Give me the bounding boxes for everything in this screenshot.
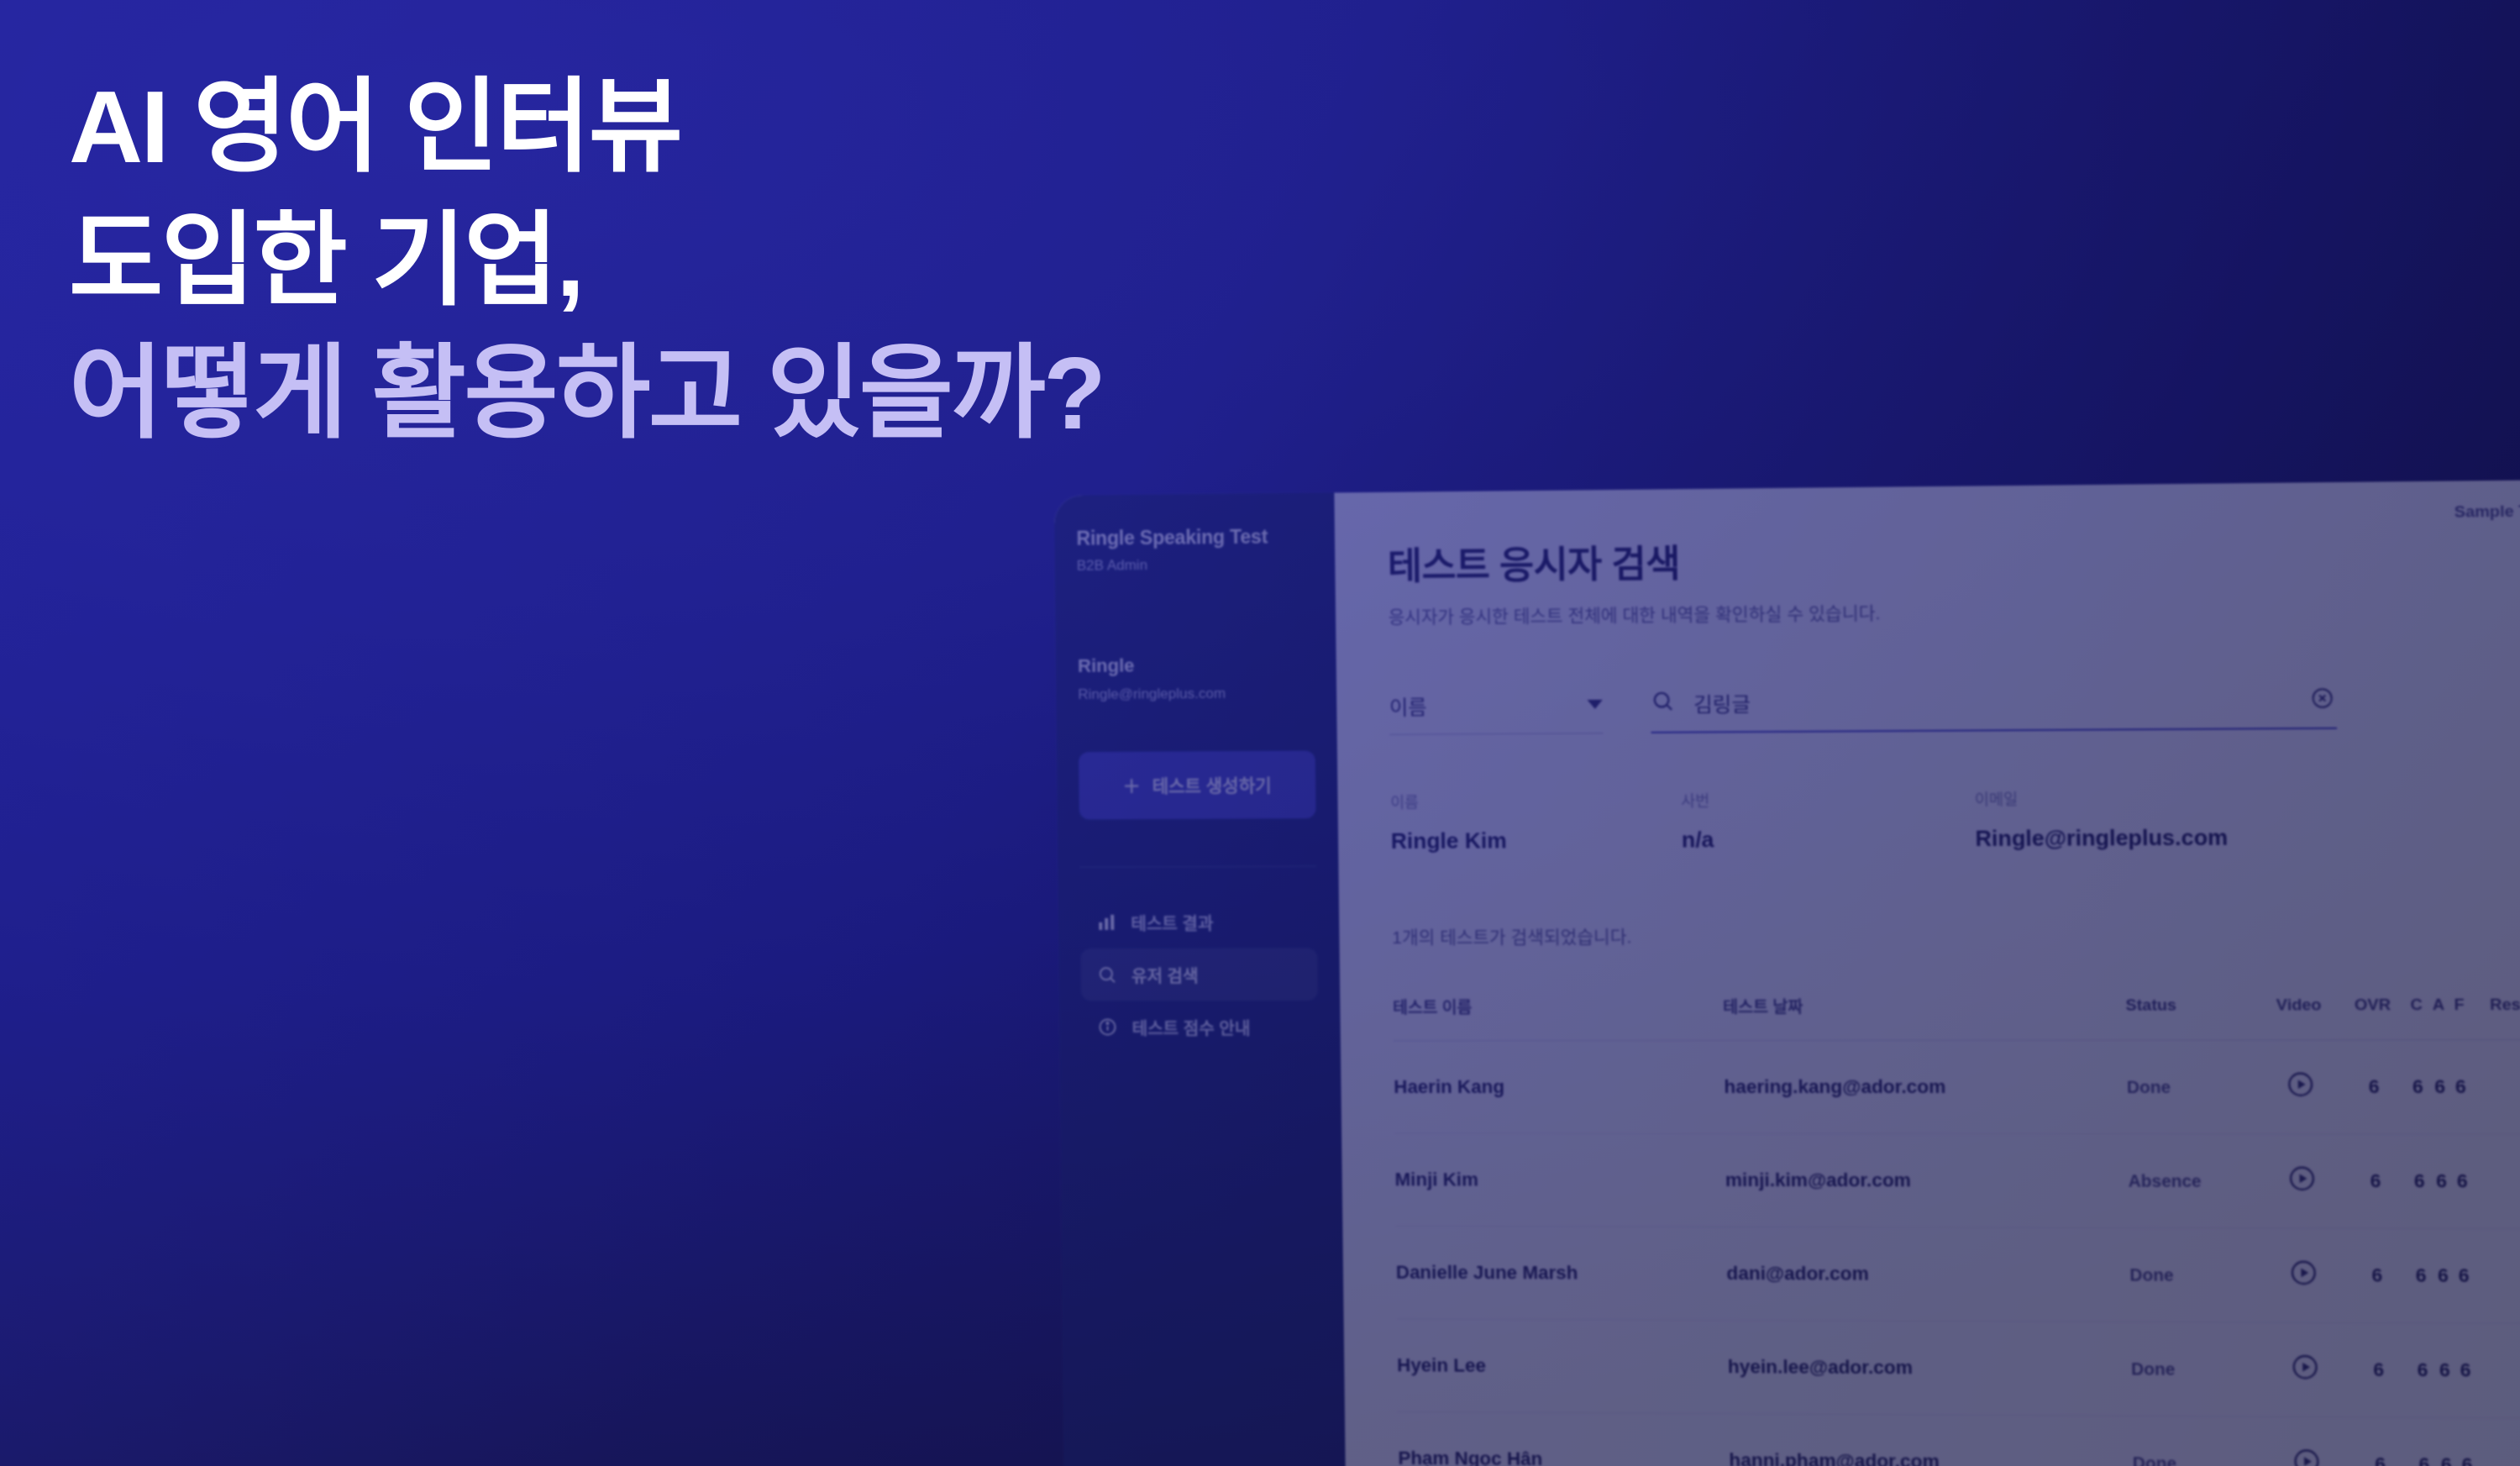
cell-f: 6 [2452, 1134, 2473, 1228]
table-header-row: 테스트 이름 테스트 날짜 Status Video OVR C A F Res… [1393, 993, 2520, 1040]
user-info-label: 이름 [1390, 790, 1681, 813]
cell-test-name: Phạm Ngọc Hân [1398, 1412, 1730, 1466]
cell-c: 6 [2412, 1417, 2436, 1466]
table-col-test-name[interactable]: 테스트 이름 [1393, 995, 1724, 1041]
cell-a: 6 [2434, 1417, 2458, 1466]
account-email: Ringle@ringleplus.com [1078, 685, 1315, 703]
cell-a: 6 [2428, 1040, 2452, 1134]
table-row[interactable]: Hyein Leehyein.lee@ador.comDone6666 [1397, 1319, 2520, 1418]
sidebar-item-score-guide[interactable]: 테스트 점수 안내 [1081, 1001, 1319, 1054]
app-sidebar: Ringle Speaking Test B2B Admin Ringle Ri… [1054, 493, 1346, 1466]
cell-c: 6 [2411, 1323, 2434, 1418]
play-icon[interactable] [2285, 1082, 2315, 1104]
filter-row: 이름 김링글 [1389, 682, 2520, 735]
brand-title: Ringle Speaking Test [1076, 525, 1313, 550]
cell-result [2471, 1134, 2520, 1229]
sidebar-divider [1079, 866, 1316, 868]
table-row[interactable]: Danielle June Marshdani@ador.comDone6666 [1395, 1226, 2520, 1323]
table-col-status[interactable]: Status [2125, 994, 2258, 1040]
play-icon[interactable] [2290, 1364, 2320, 1386]
clear-circle-icon[interactable] [2310, 686, 2337, 712]
cell-video[interactable] [2259, 1040, 2342, 1134]
user-info-row: 이름 Ringle Kim 사번 n/a 이메일 Ringle@ringlepl… [1390, 785, 2520, 854]
cell-a: 6 [2431, 1228, 2454, 1323]
headline-line-3: 어떻게 활용하고 있을까? [69, 327, 1104, 460]
cell-test-date: hyein.lee@ador.com [1727, 1320, 2132, 1416]
search-input[interactable]: 김링글 [1651, 683, 2337, 733]
cell-video[interactable] [2265, 1416, 2348, 1466]
bar-chart-icon [1095, 912, 1117, 933]
cell-result [2473, 1228, 2520, 1323]
cell-f: 6 [2456, 1418, 2477, 1466]
cell-f: 6 [2453, 1228, 2474, 1323]
table-row[interactable]: Minji Kimminji.kim@ador.comAbsence6666 [1394, 1133, 2520, 1229]
cell-f: 6 [2454, 1323, 2475, 1418]
cell-status: Done [2130, 1322, 2265, 1416]
cell-ovr: 6 [2342, 1134, 2409, 1228]
cell-a: 6 [2429, 1134, 2453, 1228]
create-test-button-label: 테스트 생성하기 [1152, 772, 1272, 798]
topbar-sample-test-label[interactable]: Sample Test [2454, 502, 2520, 523]
plus-icon: ＋ [1122, 773, 1140, 798]
cell-test-date: dani@ador.com [1726, 1227, 2131, 1322]
cell-ovr: 6 [2346, 1417, 2413, 1466]
cell-status: Absence [2128, 1134, 2261, 1228]
table-body: Haerin Kanghaering.kang@ador.comDone6666… [1394, 1040, 2520, 1466]
sidebar-nav: 테스트 결과 유저 검색 테스트 점수 안내 [1080, 896, 1319, 1054]
cell-ovr: 6 [2345, 1322, 2412, 1417]
sidebar-item-user-search[interactable]: 유저 검색 [1080, 948, 1318, 1001]
filter-type-value: 이름 [1389, 691, 1427, 721]
cell-test-name: Minji Kim [1394, 1133, 1726, 1227]
app-main-content: Sample Test 테스트 응시자 검색 응시자가 응시한 테스트 전체에 … [1334, 480, 2520, 1466]
cell-f: 6 [2450, 1040, 2471, 1134]
user-info-email: 이메일 Ringle@ringleplus.com [1975, 785, 2520, 852]
cell-c: 6 [2407, 1134, 2431, 1228]
user-info-employee-id: 사번 n/a [1681, 788, 1976, 854]
table-col-f[interactable]: F [2449, 994, 2470, 1040]
cell-result [2476, 1418, 2520, 1466]
cell-status: Done [2132, 1416, 2266, 1466]
sidebar-item-label: 테스트 결과 [1131, 910, 1213, 934]
cell-result [2475, 1323, 2520, 1418]
account-block: Ringle Ringle@ringleplus.com [1078, 654, 1315, 703]
cell-a: 6 [2433, 1323, 2456, 1418]
cell-test-date: minji.kim@ador.com [1725, 1133, 2129, 1227]
cell-video[interactable] [2263, 1322, 2346, 1417]
cell-test-name: Danielle June Marsh [1395, 1226, 1727, 1320]
play-icon[interactable] [2286, 1176, 2317, 1198]
page-subtitle: 응시자가 응시한 테스트 전체에 대한 내역을 확인하실 수 있습니다. [1389, 594, 2520, 629]
info-circle-icon [1096, 1016, 1118, 1038]
cell-ovr: 6 [2344, 1228, 2411, 1323]
cell-status: Done [2129, 1227, 2263, 1322]
filter-type-select[interactable]: 이름 [1389, 690, 1604, 735]
user-info-name: 이름 Ringle Kim [1390, 790, 1682, 855]
table-col-c[interactable]: C [2405, 994, 2428, 1040]
play-icon[interactable] [2292, 1458, 2322, 1466]
cell-test-date: hanni.pham@ador.com [1729, 1414, 2134, 1466]
cell-video[interactable] [2260, 1134, 2343, 1228]
chevron-down-icon [1587, 700, 1602, 709]
search-icon [1096, 964, 1118, 985]
app-screen: Ringle Speaking Test B2B Admin Ringle Ri… [1054, 480, 2520, 1466]
cell-test-date: haering.kang@ador.com [1724, 1040, 2128, 1134]
user-info-value: n/a [1682, 826, 1976, 854]
cell-test-name: Hyein Lee [1397, 1319, 1729, 1414]
search-icon [1651, 689, 1675, 717]
user-info-value: Ringle@ringleplus.com [1975, 822, 2520, 852]
cell-ovr: 6 [2340, 1040, 2407, 1134]
table-row[interactable]: Haerin Kanghaering.kang@ador.comDone6666 [1394, 1040, 2520, 1135]
headline-line-2: 도입한 기업, [69, 194, 1104, 328]
table-col-result[interactable]: Result [2469, 993, 2520, 1039]
table-col-test-date[interactable]: 테스트 날짜 [1723, 994, 2126, 1040]
user-info-label: 사번 [1681, 788, 1975, 812]
cell-c: 6 [2406, 1040, 2429, 1134]
cell-test-name: Haerin Kang [1394, 1040, 1725, 1133]
tests-table: 테스트 이름 테스트 날짜 Status Video OVR C A F Res… [1393, 993, 2520, 1466]
play-icon[interactable] [2288, 1270, 2318, 1292]
user-info-label: 이메일 [1975, 785, 2520, 810]
cell-result [2470, 1040, 2520, 1135]
table-col-a[interactable]: A [2428, 994, 2450, 1040]
sidebar-item-label: 유저 검색 [1131, 962, 1199, 986]
table-col-video[interactable]: Video [2258, 994, 2340, 1040]
sidebar-item-label: 테스트 점수 안내 [1131, 1015, 1250, 1039]
page-title: 테스트 응시자 검색 [1388, 525, 2520, 591]
sidebar-item-test-results[interactable]: 테스트 결과 [1080, 896, 1317, 948]
create-test-button[interactable]: ＋ 테스트 생성하기 [1079, 751, 1315, 820]
cell-video[interactable] [2261, 1228, 2344, 1323]
user-info-value: Ringle Kim [1391, 827, 1682, 854]
cell-c: 6 [2409, 1228, 2433, 1323]
account-name: Ringle [1078, 654, 1315, 677]
cell-status: Done [2126, 1040, 2260, 1134]
table-row[interactable]: Phạm Ngọc Hânhanni.pham@ador.comDone6666 [1398, 1412, 2520, 1466]
headline: AI 영어 인터뷰 도입한 기업, 어떻게 활용하고 있을까? [69, 60, 1104, 460]
laptop-device-mockup: Ringle Speaking Test B2B Admin Ringle Ri… [1054, 480, 2520, 1466]
result-count: 1개의 테스트가 검색되었습니다. [1392, 921, 2520, 949]
brand-subtitle: B2B Admin [1077, 555, 1313, 575]
search-input-value: 김링글 [1693, 684, 2291, 717]
headline-line-1: AI 영어 인터뷰 [69, 60, 1104, 194]
table-col-ovr[interactable]: OVR [2339, 994, 2406, 1040]
